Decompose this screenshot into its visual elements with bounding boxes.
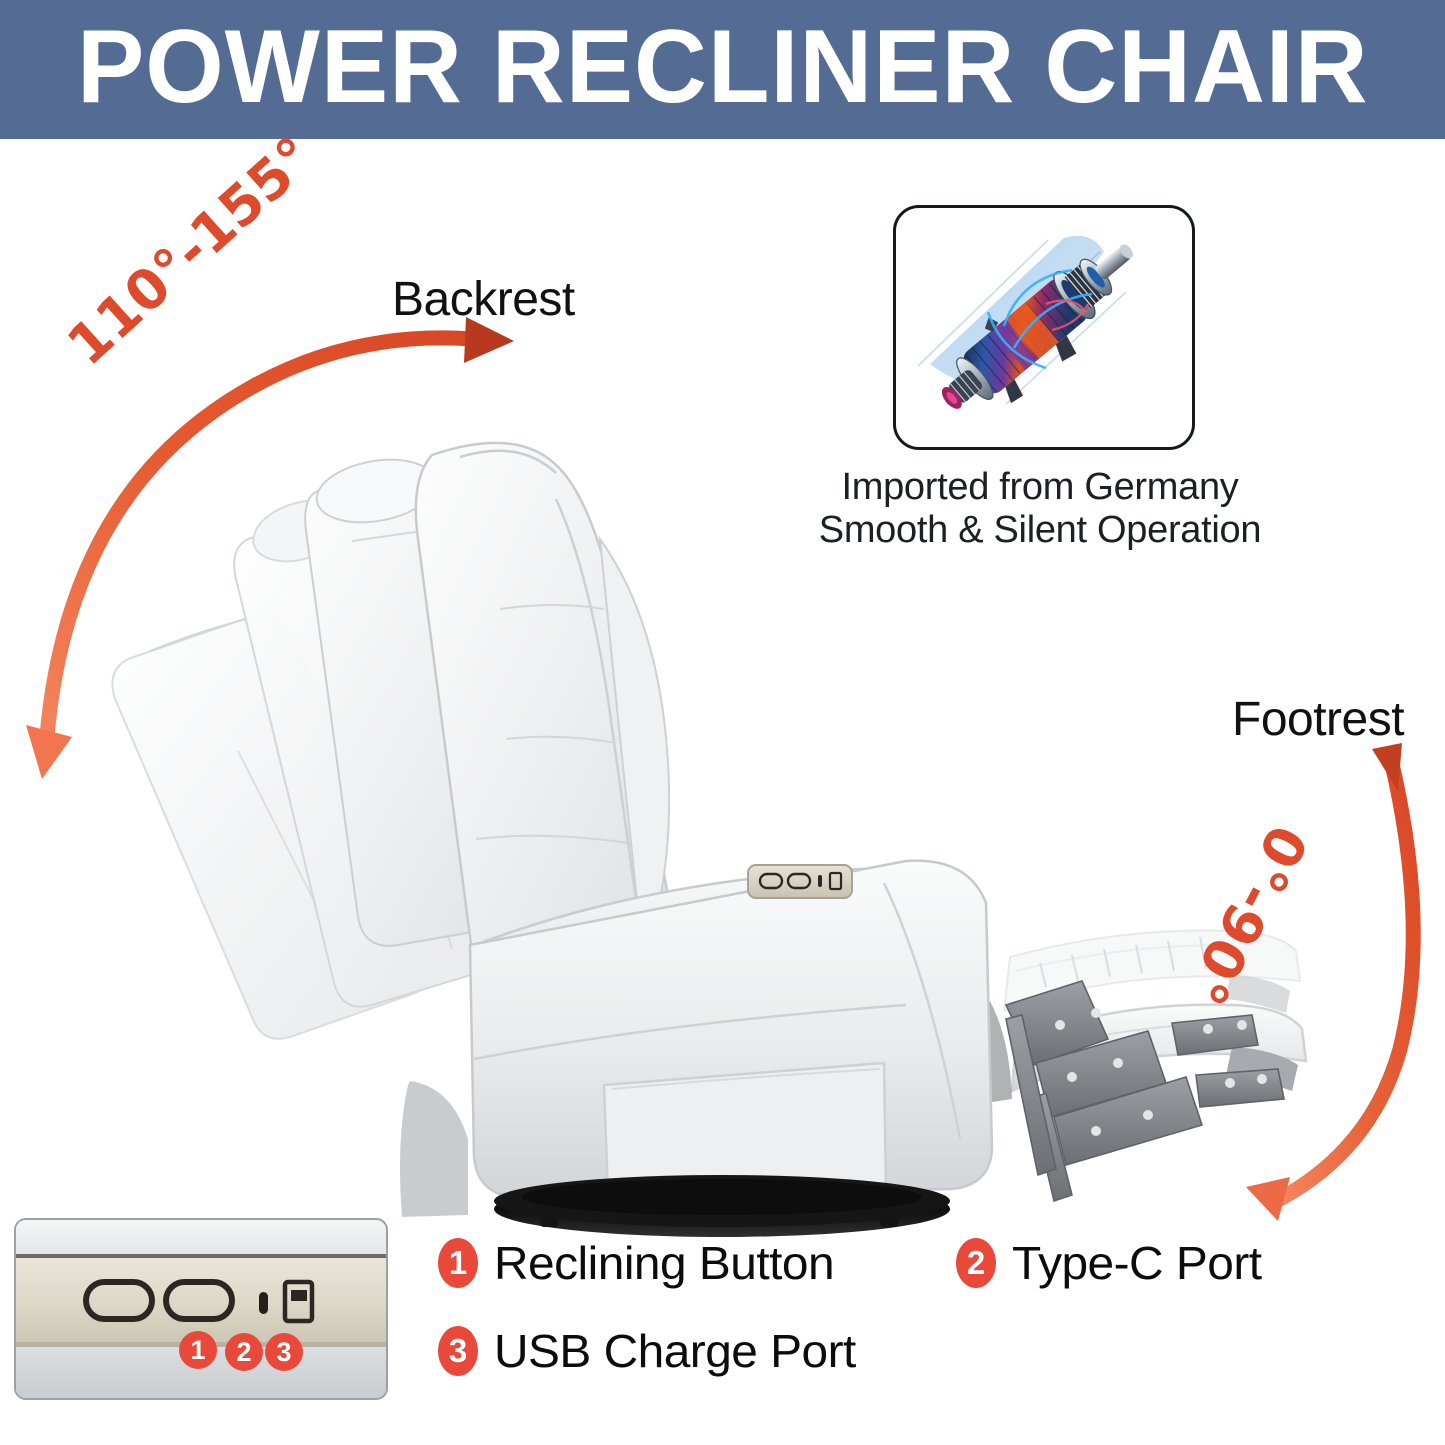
inset-marker-2: 2: [225, 1333, 263, 1371]
armrest-control-panel: [748, 865, 852, 898]
svg-text:2: 2: [236, 1337, 251, 1367]
legend-label-3: USB Charge Port: [494, 1324, 856, 1378]
backrest-label: Backrest: [392, 272, 575, 327]
type-c-port-icon: [818, 875, 822, 887]
legend-badge-1: 1: [438, 1238, 478, 1288]
legend-item-type-c-port: 2 Type-C Port: [956, 1236, 1252, 1290]
legend-label-2: Type-C Port: [1012, 1236, 1262, 1290]
product-illustration: [0, 139, 1445, 1269]
footrest-label: Footrest: [1232, 692, 1404, 747]
legend-item-usb-charge-port: 3 USB Charge Port: [438, 1324, 842, 1378]
page-title: POWER RECLINER CHAIR: [77, 15, 1369, 125]
inset-marker-3: 3: [265, 1333, 303, 1371]
header-banner: POWER RECLINER CHAIR: [0, 0, 1445, 139]
legend-badge-2: 2: [956, 1238, 996, 1288]
motor-caption: Imported from Germany Smooth & Silent Op…: [760, 466, 1320, 553]
control-panel-inset: 1 2 3: [14, 1218, 388, 1400]
motor-callout-box: [893, 205, 1195, 450]
motor-caption-line-2: Smooth & Silent Operation: [760, 509, 1320, 552]
inset-type-c-port: [259, 1292, 268, 1314]
inset-marker-1: 1: [179, 1331, 217, 1369]
legend-label-1: Reclining Button: [494, 1236, 834, 1290]
svg-text:1: 1: [190, 1335, 205, 1365]
control-panel-photo: 1 2 3: [16, 1220, 386, 1398]
motor-caption-line-1: Imported from Germany: [760, 466, 1320, 509]
electric-motor-icon: [896, 208, 1192, 447]
legend-item-reclining-button: 1 Reclining Button: [438, 1236, 821, 1290]
swivel-base: [494, 1175, 950, 1237]
svg-text:3: 3: [276, 1337, 291, 1367]
legend: 1 Reclining Button 2 Type-C Port 3 USB C…: [438, 1236, 1398, 1406]
infographic-root: POWER RECLINER CHAIR: [0, 0, 1445, 1445]
legend-badge-3: 3: [438, 1326, 478, 1376]
chair-rear-skirt: [400, 1081, 468, 1217]
